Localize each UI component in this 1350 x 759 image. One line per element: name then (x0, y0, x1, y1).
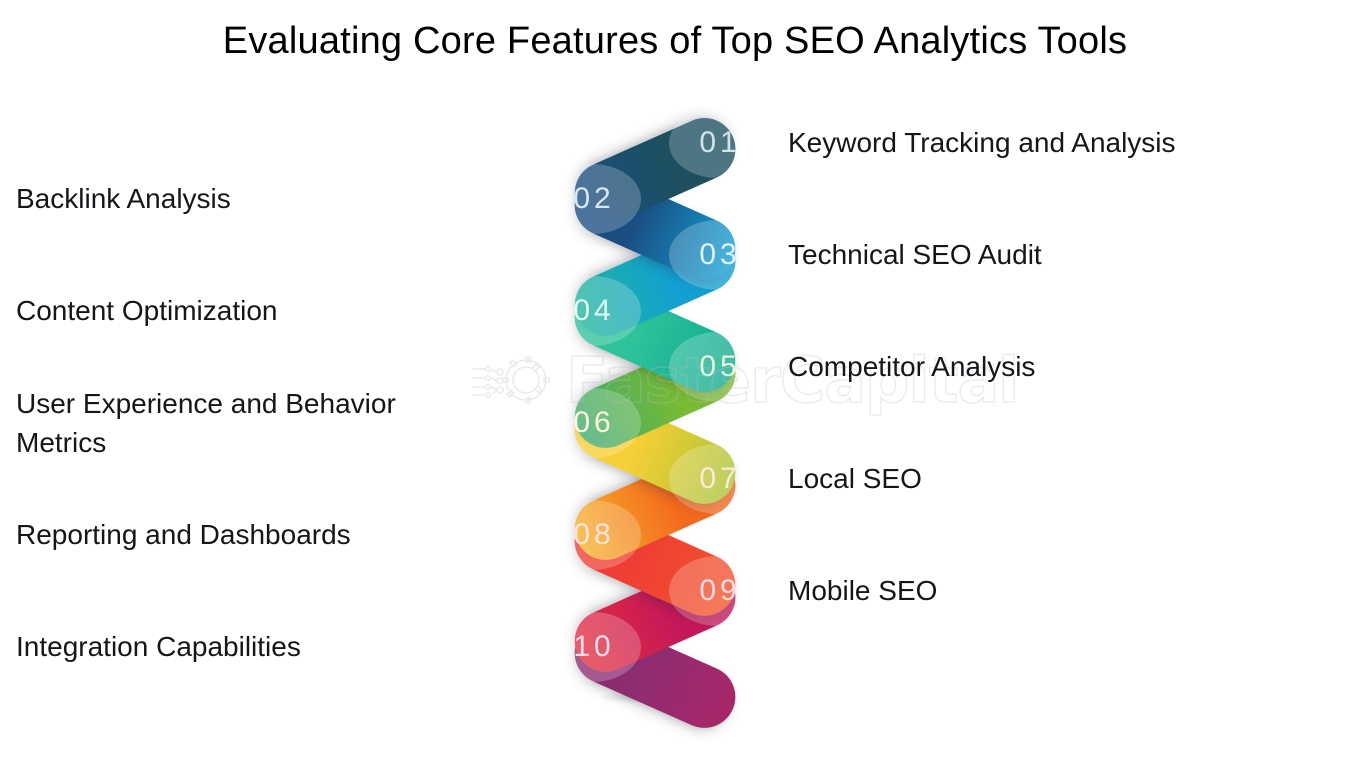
step-number-06: 06 (569, 406, 614, 440)
step-number-01: 01 (695, 126, 740, 160)
step-number-bubble-07[interactable]: 07 (669, 444, 767, 514)
step-label-10[interactable]: Integration Capabilities (16, 628, 536, 667)
step-label-05[interactable]: Competitor Analysis (788, 348, 1035, 387)
step-number-09: 09 (695, 574, 740, 608)
step-number-bubble-01[interactable]: 01 (669, 108, 767, 178)
step-number-02: 02 (569, 182, 614, 216)
step-number-bubble-09[interactable]: 09 (669, 556, 767, 626)
step-number-04: 04 (569, 294, 614, 328)
step-label-02[interactable]: Backlink Analysis (16, 180, 536, 219)
step-label-07[interactable]: Local SEO (788, 460, 922, 499)
step-number-bubble-05[interactable]: 05 (669, 332, 767, 402)
step-label-04[interactable]: Content Optimization (16, 292, 536, 331)
step-number-bubble-03[interactable]: 03 (669, 220, 767, 290)
infographic-canvas: Evaluating Core Features of Top SEO Anal… (0, 0, 1350, 759)
step-label-08[interactable]: Reporting and Dashboards (16, 516, 536, 555)
step-number-bubble-04[interactable]: 04 (543, 276, 641, 346)
step-label-06[interactable]: User Experience and Behavior Metrics (16, 385, 536, 462)
step-number-bubble-08[interactable]: 08 (543, 500, 641, 570)
step-number-bubble-10[interactable]: 10 (543, 612, 641, 682)
step-label-09[interactable]: Mobile SEO (788, 572, 937, 611)
step-number-05: 05 (695, 350, 740, 384)
step-label-01[interactable]: Keyword Tracking and Analysis (788, 124, 1176, 163)
step-number-bubble-06[interactable]: 06 (543, 388, 641, 458)
step-number-08: 08 (569, 518, 614, 552)
step-number-03: 03 (695, 238, 740, 272)
step-label-03[interactable]: Technical SEO Audit (788, 236, 1042, 275)
step-number-07: 07 (695, 462, 740, 496)
step-number-10: 10 (569, 630, 614, 664)
step-number-bubble-02[interactable]: 02 (543, 164, 641, 234)
